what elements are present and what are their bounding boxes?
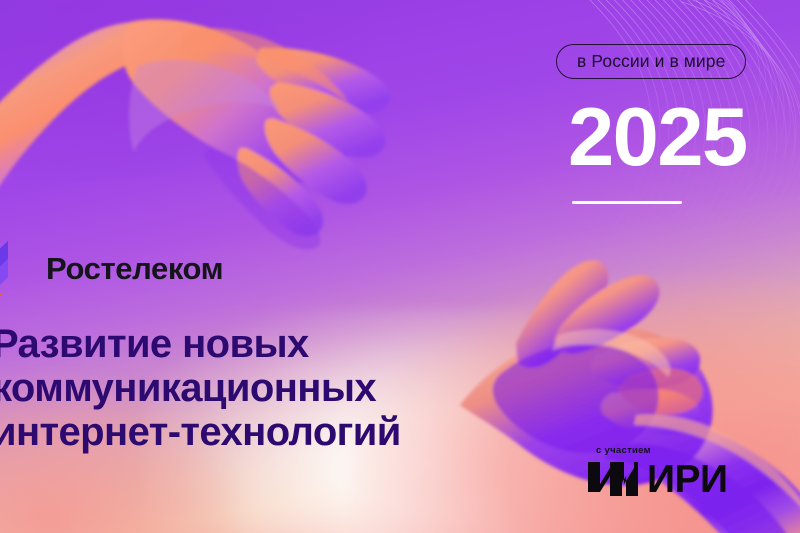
headline-line-1: Развитие новых [0,322,552,366]
region-badge-label: в России и в мире [577,53,725,71]
headline-line-3: интернет-технологий [0,410,552,454]
horizontal-rule-icon [572,201,682,204]
background-purple-glow [0,0,368,181]
headline-line-2: коммуникационных [0,366,552,410]
partner-name: ИРИ [647,460,728,499]
rostelecom-wordmark: Ростелеком [46,253,223,284]
headline: Развитие новых коммуникационных интернет… [0,322,552,454]
partner-logo-row: ИРИ [586,460,728,499]
year-label: 2025 [568,95,747,178]
iri-zigzag-icon [586,460,638,498]
partner-kicker: с участием [596,446,651,456]
rostelecom-logo: Ростелеком [0,237,223,299]
promo-banner: в России и в мире 2025 Ростелеком Развит… [0,0,800,533]
rostelecom-chevron-icon [0,237,36,299]
partner-logo: с участием ИРИ [586,446,728,499]
region-badge: в России и в мире [556,44,746,79]
